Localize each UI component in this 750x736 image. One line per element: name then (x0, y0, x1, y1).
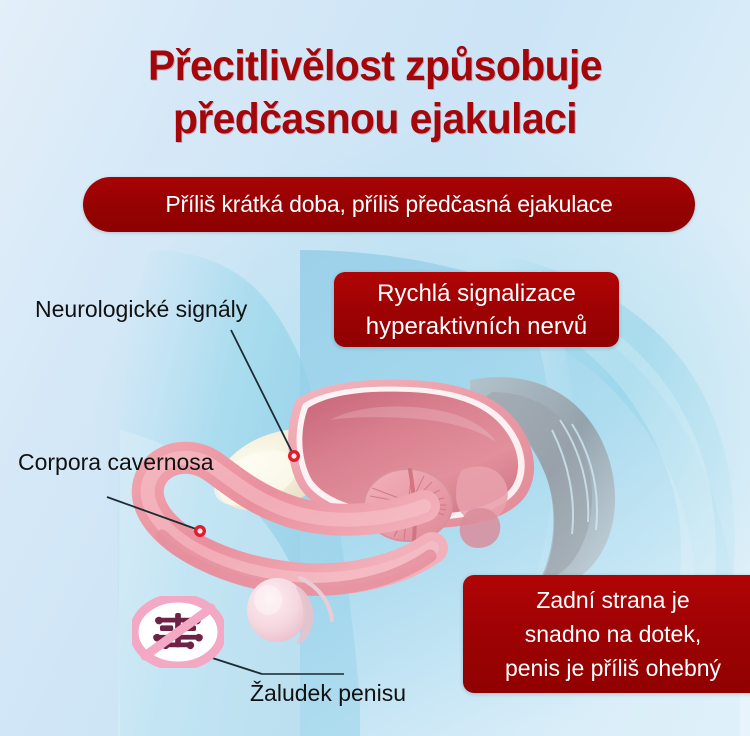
label-neurological-signals: Neurologické signály (35, 296, 247, 323)
callout-bending-line-1: Zadní strana je (463, 583, 750, 617)
callout-nerves: Rychlá signalizace hyperaktivních nervů (334, 272, 619, 347)
label-corpora-cavernosa: Corpora cavernosa (18, 449, 214, 476)
callout-nerves-line-2: hyperaktivních nervů (334, 310, 619, 343)
callout-bending-line-2: snadno na dotek, (463, 617, 750, 651)
label-glans-penis: Žaludek penisu (250, 680, 406, 707)
callout-bending-line-3: penis je příliš ohebný (463, 651, 750, 685)
prohibition-icon (132, 596, 224, 668)
pill-banner: Příliš krátká doba, příliš předčasná eja… (83, 177, 695, 232)
page-title: Přecitlivělost způsobuje předčasnou ejak… (19, 40, 732, 146)
poster-canvas: Přecitlivělost způsobuje předčasnou ejak… (0, 0, 750, 736)
title-line-2: předčasnou ejakulaci (19, 93, 732, 146)
title-line-1: Přecitlivělost způsobuje (148, 42, 602, 90)
pill-banner-text: Příliš krátká doba, příliš předčasná eja… (165, 191, 612, 217)
callout-nerves-line-1: Rychlá signalizace (334, 277, 619, 310)
callout-bending: Zadní strana je snadno na dotek, penis j… (463, 575, 750, 693)
